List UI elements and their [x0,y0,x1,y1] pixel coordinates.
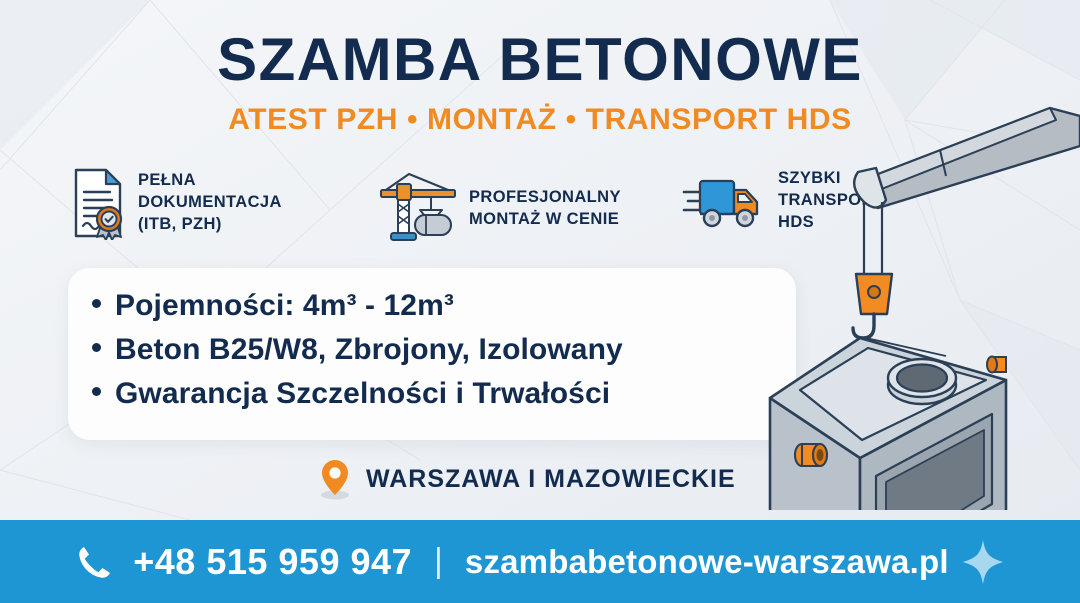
concrete-septic-tank-illustration [750,80,1080,510]
concrete-tank [770,338,1006,510]
bullet-dot-icon [92,299,101,308]
list-item: Pojemności: 4m³ - 12m³ [92,284,623,328]
subtitle: ATEST PZH • MONTAŻ • TRANSPORT HDS [0,103,1080,137]
contact-separator: | [430,542,447,581]
bullet-list: Pojemności: 4m³ - 12m³ Beton B25/W8, Zbr… [92,284,623,416]
bullet-label: Pojemności: 4m³ - 12m³ [115,284,454,328]
sparkle-icon [961,538,1005,586]
inlet-pipe [795,444,827,466]
page-title: SZAMBA BETONOWE [0,28,1080,91]
feature-item-montaz: PROFESJONALNY MONTAŻ W CENIE [375,170,621,248]
hook-block [853,274,892,338]
feature-list: PEŁNA DOKUMENTACJA (ITB, PZH) PROFESJONA… [70,160,950,256]
phone-icon [75,542,115,582]
feature-label: PEŁNA DOKUMENTACJA (ITB, PZH) [138,170,282,236]
feature-label: PROFESJONALNY MONTAŻ W CENIE [469,187,621,231]
advertisement-banner: SZAMBA BETONOWE ATEST PZH • MONTAŻ • TRA… [0,0,1080,603]
delivery-truck-icon [682,170,766,232]
lifting-cables [772,338,946,458]
list-item: Beton B25/W8, Zbrojony, Izolowany [92,328,623,372]
outlet-pipe [987,357,1006,373]
feature-label: SZYBKI TRANSPORT HDS [778,168,884,234]
feature-item-dokumentacja: PEŁNA DOKUMENTACJA (ITB, PZH) [70,166,282,240]
website-url[interactable]: szambabetonowe-warszawa.pl [465,543,949,581]
bullet-label: Gwarancja Szczelności i Trwałości [115,372,610,416]
bullet-dot-icon [92,387,101,396]
location-line: WARSZAWA I MAZOWIECKIE [318,458,736,500]
map-pin-icon [318,458,352,500]
feature-item-transport: SZYBKI TRANSPORT HDS [682,168,884,234]
tower-crane-icon [375,170,457,248]
location-label: WARSZAWA I MAZOWIECKIE [366,465,736,494]
phone-number[interactable]: +48 515 959 947 [133,541,412,583]
certificate-document-icon [70,166,126,240]
bullet-label: Beton B25/W8, Zbrojony, Izolowany [115,328,623,372]
contact-bar: +48 515 959 947 | szambabetonowe-warszaw… [0,520,1080,603]
list-item: Gwarancja Szczelności i Trwałości [92,372,623,416]
features-card: Pojemności: 4m³ - 12m³ Beton B25/W8, Zbr… [68,268,796,440]
bullet-dot-icon [92,343,101,352]
